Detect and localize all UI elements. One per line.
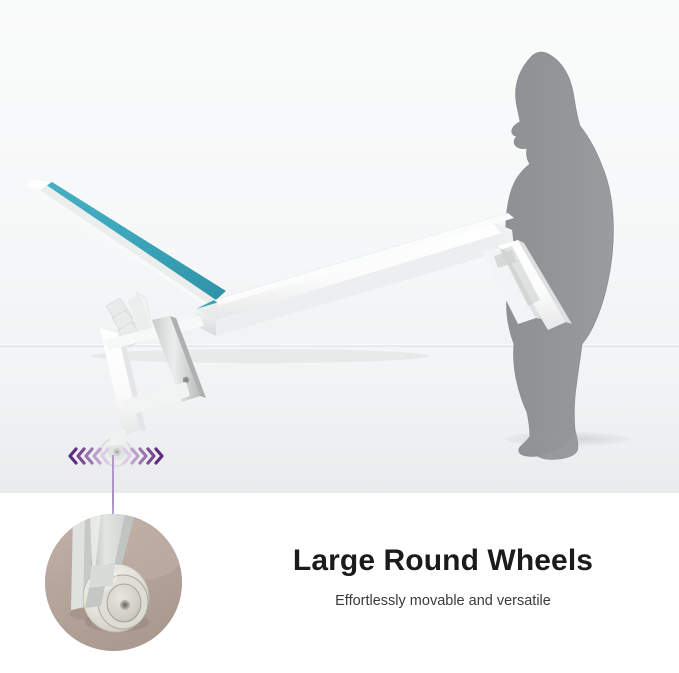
caster-wheel-closeup-photo xyxy=(45,514,182,651)
motion-direction-arrows-icon xyxy=(68,444,164,468)
product-feature-image: Large Round Wheels Effortlessly movable … xyxy=(0,0,679,673)
chaise-lounge-chair xyxy=(0,0,679,493)
callout-leader-line xyxy=(112,455,114,523)
caption-subtitle: Effortlessly movable and versatile xyxy=(215,593,671,610)
caption-block: Large Round Wheels Effortlessly movable … xyxy=(215,544,671,610)
hero-panel xyxy=(0,0,679,493)
caption-title: Large Round Wheels xyxy=(215,544,671,577)
